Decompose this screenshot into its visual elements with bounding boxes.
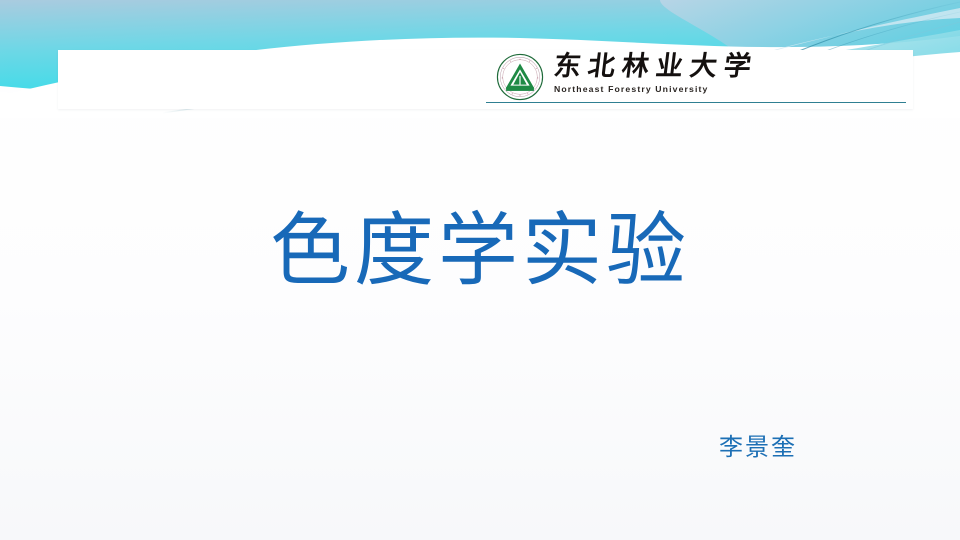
logo-underline-rule bbox=[486, 102, 906, 103]
university-name-en: Northeast Forestry University bbox=[554, 84, 913, 95]
university-name-cn: 东北林业大学 bbox=[552, 49, 908, 83]
university-crest-icon bbox=[496, 53, 544, 101]
university-wordmark: 东北林业大学 Northeast Forestry University bbox=[554, 49, 906, 101]
slide-author: 李景奎 bbox=[0, 432, 960, 464]
university-logo: 东北林业大学 Northeast Forestry University bbox=[486, 49, 910, 107]
slide-title: 色度学实验 bbox=[0, 200, 960, 304]
title-slide: 东北林业大学 Northeast Forestry University 色度学… bbox=[0, 0, 960, 540]
